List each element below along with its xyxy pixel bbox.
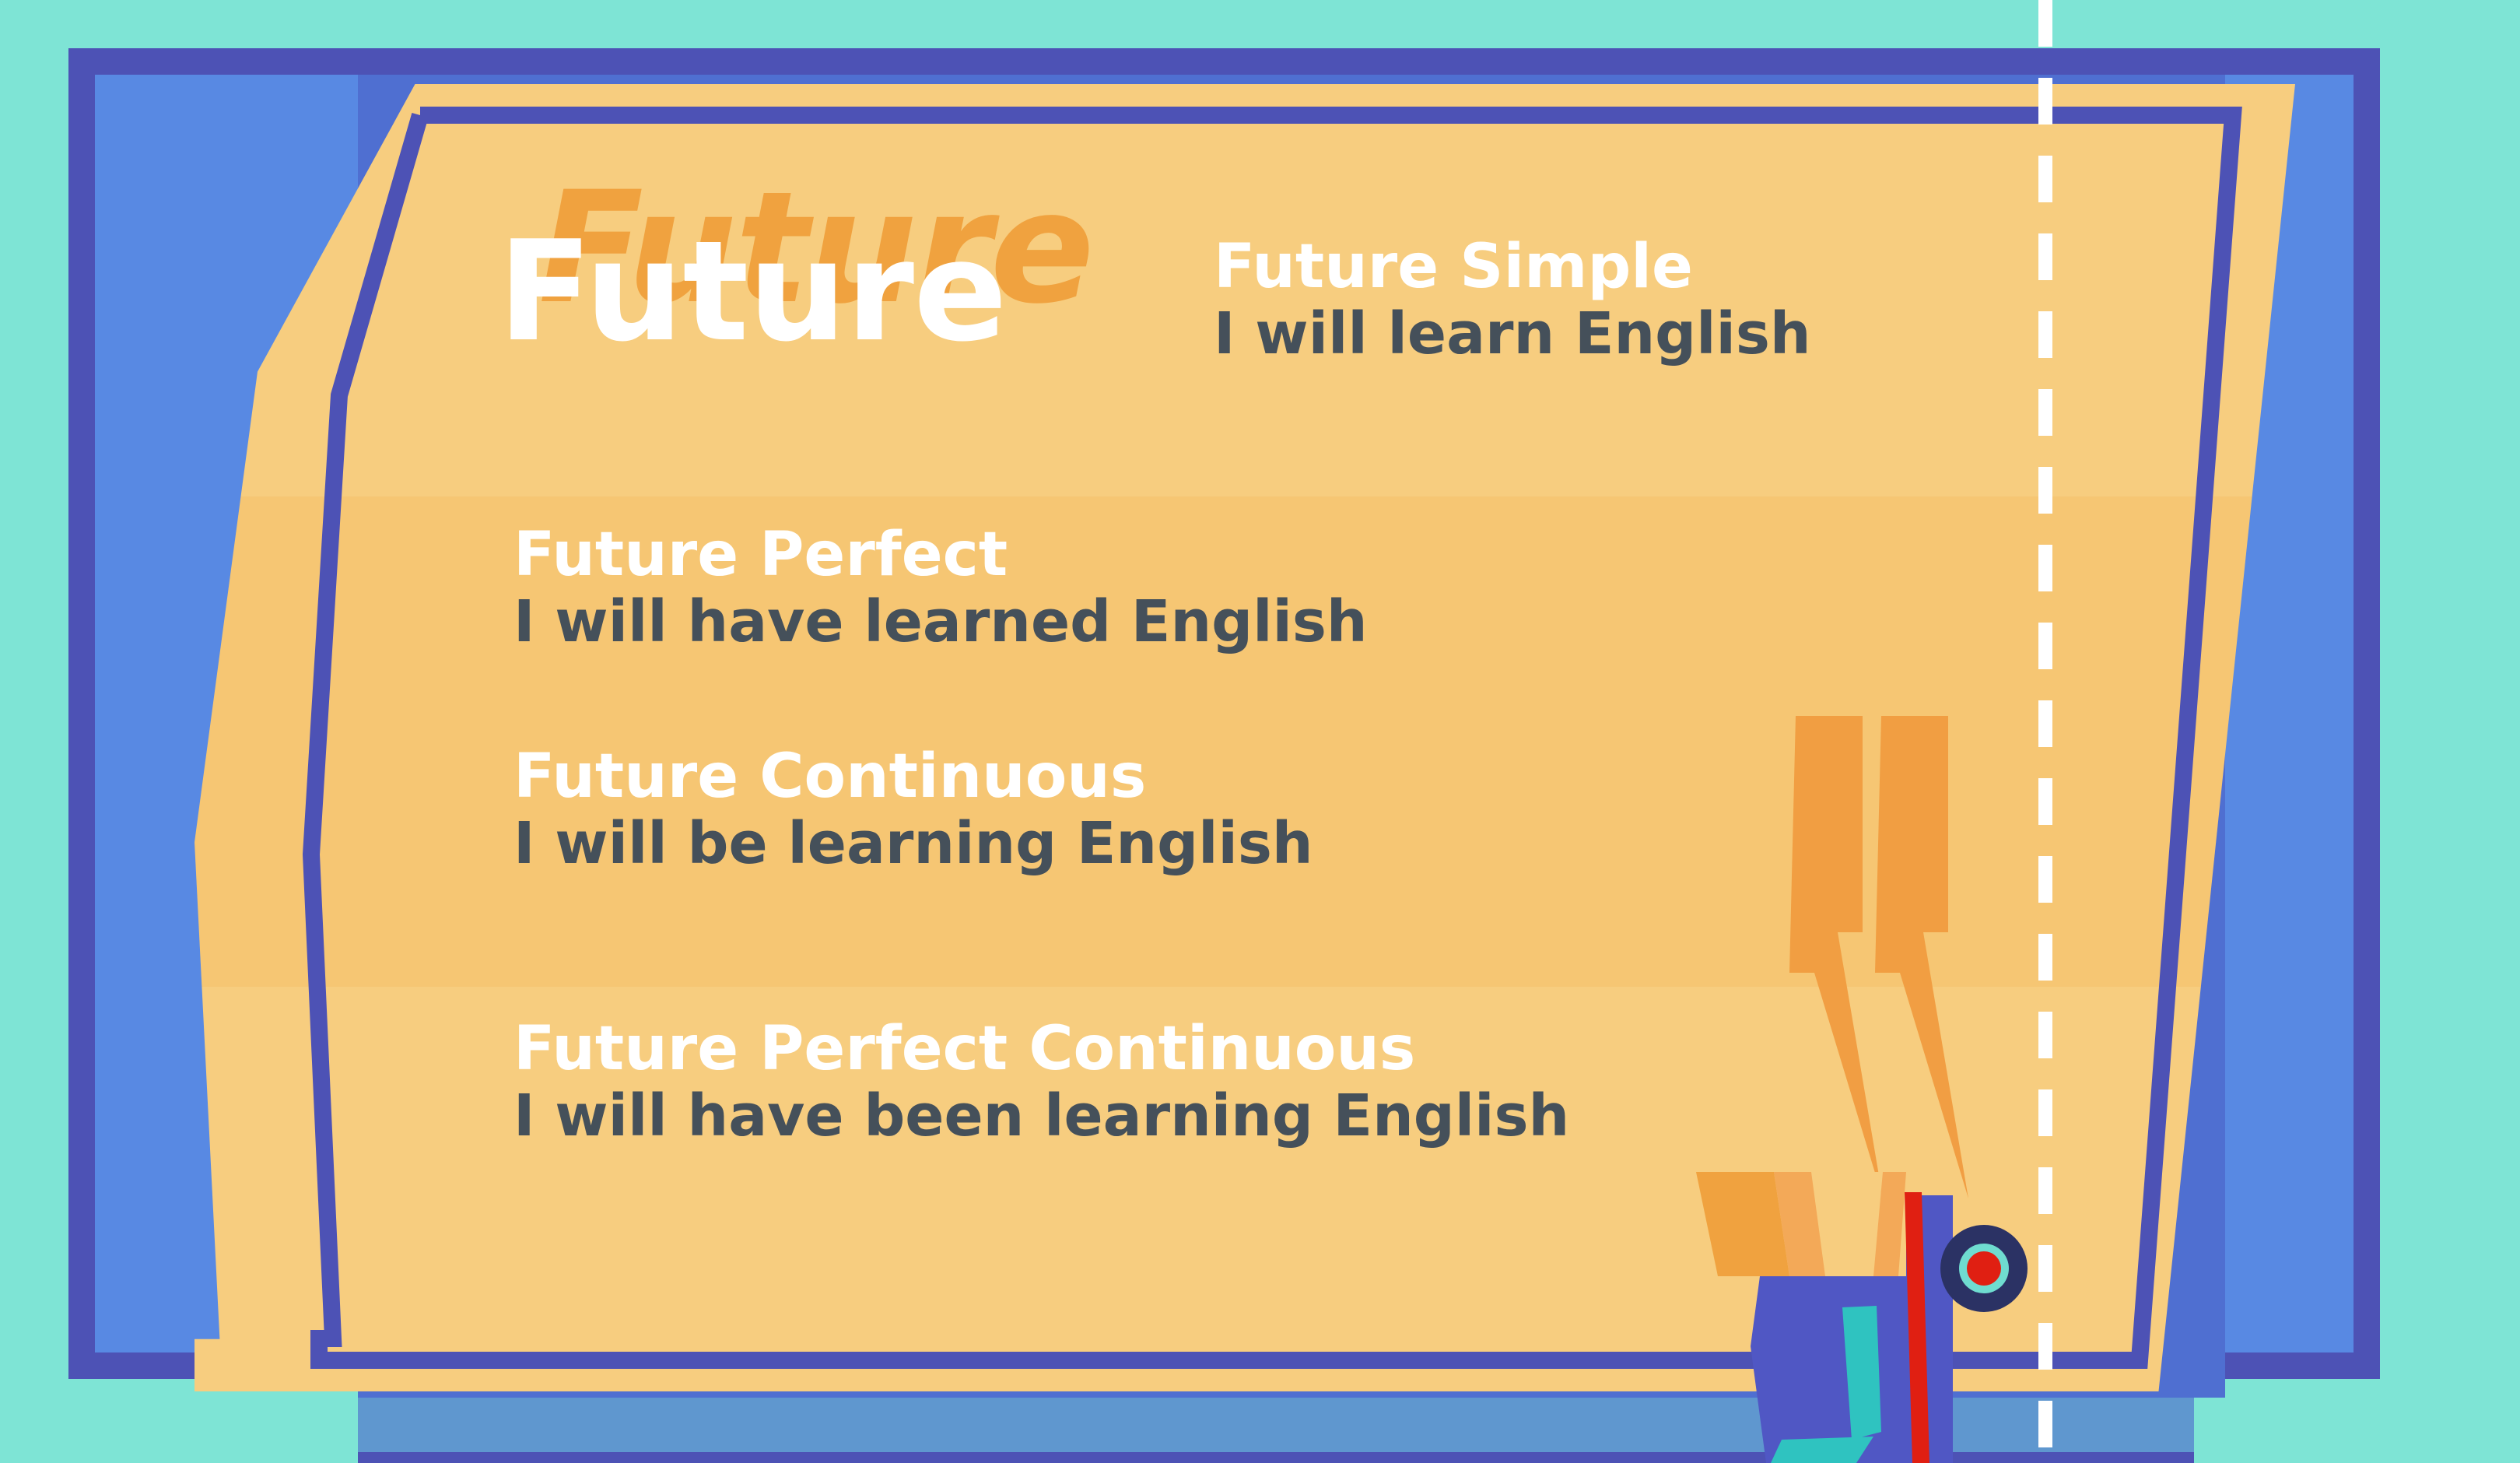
- pencil-body-icon: [1751, 1276, 1906, 1463]
- tense-example: I will learn English: [1214, 301, 1811, 367]
- tense-name: Future Perfect Continuous: [513, 1016, 1569, 1083]
- tense-name: Future Simple: [1214, 233, 1811, 301]
- lightning-bolt-group: [1766, 716, 2015, 1198]
- dashed-guide-line-icon: [2038, 0, 2052, 1463]
- tense-example: I will have learned English: [513, 589, 1368, 655]
- tense-name: Future Perfect: [513, 521, 1368, 589]
- target-circle-icon: [1940, 1225, 2028, 1312]
- title-wrap: Future Future: [498, 209, 1120, 372]
- page-title: Future: [498, 223, 1007, 361]
- tense-block-future-continuous: Future Continuous I will be learning Eng…: [513, 743, 1313, 877]
- pencil-flange-center-icon: [1819, 1172, 1883, 1276]
- tense-block-future-simple: Future Simple I will learn English: [1214, 233, 1811, 367]
- tense-example: I will be learning English: [513, 811, 1313, 877]
- lightning-bolt-icon: [1875, 716, 1968, 1198]
- tense-name: Future Continuous: [513, 743, 1313, 811]
- pencil-tip-icon: [1771, 1437, 1873, 1463]
- tense-block-future-perfect-continuous: Future Perfect Continuous I will have be…: [513, 1016, 1569, 1149]
- tense-example: I will have been learning English: [513, 1083, 1569, 1149]
- pencil-flange-left-icon: [1696, 1172, 1789, 1276]
- slide-canvas: Future Future Future Simple I will learn…: [0, 0, 2520, 1463]
- title-row: Future Future: [498, 209, 1120, 372]
- tense-block-future-perfect: Future Perfect I will have learned Engli…: [513, 521, 1368, 655]
- lightning-bolt-icon: [1789, 716, 1883, 1198]
